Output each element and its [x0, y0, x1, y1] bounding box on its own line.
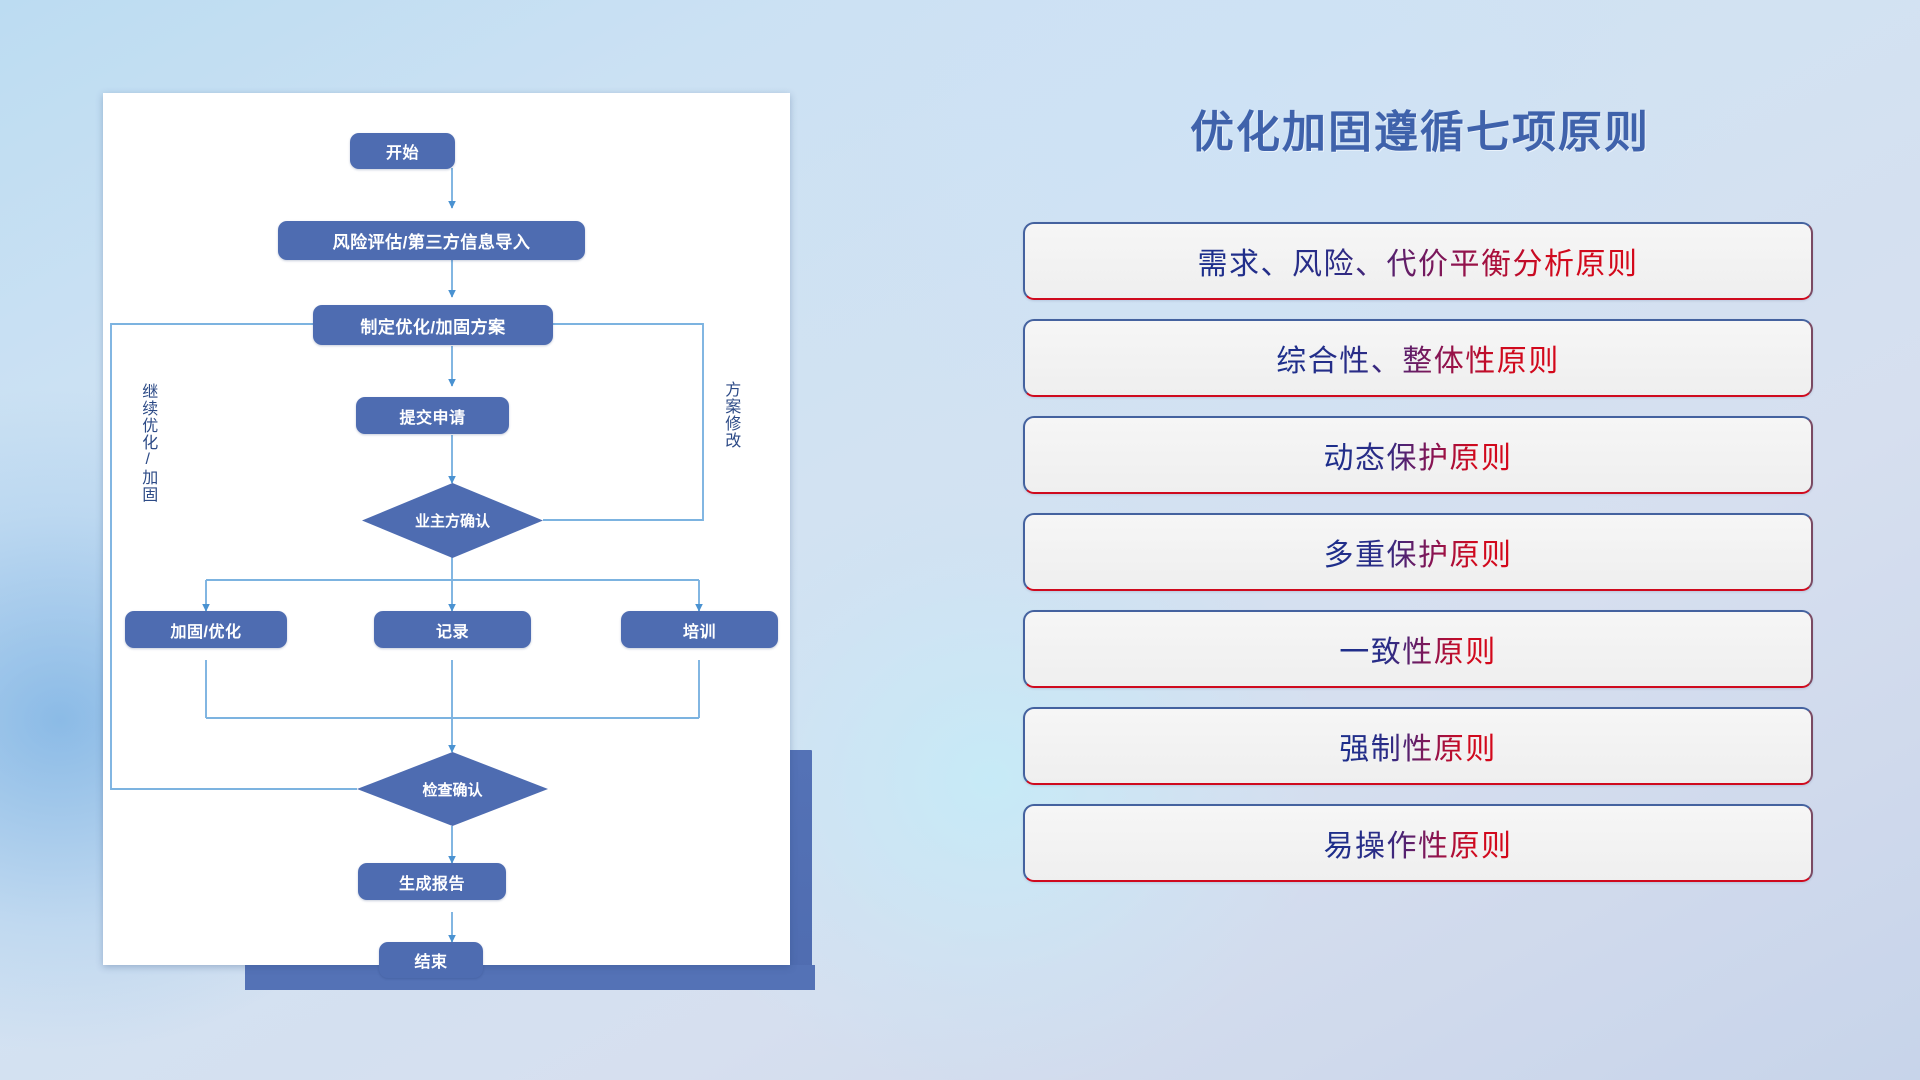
principle-card-2[interactable]: 综合性、整体性原则	[1023, 319, 1813, 397]
accent-rectangle-horizontal	[245, 965, 815, 990]
flow-node-training-label: 培训	[683, 618, 716, 642]
principle-card-3[interactable]: 动态保护原则	[1023, 416, 1813, 494]
slide-root: 开始 风险评估/第三方信息导入 制定优化/加固方案 提交申请 业主方确认 加固/…	[0, 0, 1920, 1080]
flow-node-check-confirm-label: 检查确认	[422, 779, 482, 800]
principle-card-7[interactable]: 易操作性原则	[1023, 804, 1813, 882]
flowchart-card: 开始 风险评估/第三方信息导入 制定优化/加固方案 提交申请 业主方确认 加固/…	[103, 93, 790, 965]
flow-node-reinforce-optimize-label: 加固/优化	[171, 618, 242, 642]
flow-node-reinforce-optimize[interactable]: 加固/优化	[125, 611, 287, 648]
flow-node-start-label: 开始	[386, 139, 419, 163]
principles-panel: 优化加固遵循七项原则 需求、风险、代价平衡分析原则 综合性、整体性原则 动态保护…	[1020, 96, 1820, 996]
edge-label-continue-optimize: 继续优化/加固	[139, 383, 156, 503]
flow-node-owner-confirm[interactable]: 业主方确认	[362, 483, 543, 558]
principle-card-4-label: 多重保护原则	[1324, 530, 1513, 574]
flow-node-end[interactable]: 结束	[379, 942, 483, 978]
principle-card-1-label: 需求、风险、代价平衡分析原则	[1198, 239, 1639, 283]
panel-title: 优化加固遵循七项原则	[1020, 96, 1820, 160]
flow-node-plan-label: 制定优化/加固方案	[360, 313, 505, 338]
edge-label-plan-revision: 方案修改	[722, 381, 739, 449]
flow-node-owner-confirm-label: 业主方确认	[415, 510, 490, 531]
flow-node-submit-application[interactable]: 提交申请	[356, 397, 509, 434]
principle-card-6-label: 强制性原则	[1339, 724, 1497, 768]
flow-node-generate-report-label: 生成报告	[399, 870, 465, 894]
flow-node-end-label: 结束	[414, 948, 447, 972]
flow-node-training[interactable]: 培训	[621, 611, 778, 648]
flow-node-record[interactable]: 记录	[374, 611, 531, 648]
principle-card-3-label: 动态保护原则	[1324, 433, 1513, 477]
flow-node-start[interactable]: 开始	[350, 133, 455, 169]
principle-card-5[interactable]: 一致性原则	[1023, 610, 1813, 688]
principle-card-5-label: 一致性原则	[1339, 627, 1497, 671]
flow-node-risk-assessment-label: 风险评估/第三方信息导入	[333, 228, 531, 253]
flow-node-plan[interactable]: 制定优化/加固方案	[313, 305, 553, 345]
principle-card-2-label: 综合性、整体性原则	[1276, 336, 1560, 380]
principle-card-4[interactable]: 多重保护原则	[1023, 513, 1813, 591]
principle-card-6[interactable]: 强制性原则	[1023, 707, 1813, 785]
flow-node-generate-report[interactable]: 生成报告	[358, 863, 506, 900]
flow-node-risk-assessment[interactable]: 风险评估/第三方信息导入	[278, 221, 585, 260]
principle-card-1[interactable]: 需求、风险、代价平衡分析原则	[1023, 222, 1813, 300]
principle-card-7-label: 易操作性原则	[1324, 821, 1513, 865]
flow-node-submit-application-label: 提交申请	[399, 404, 465, 428]
flow-node-record-label: 记录	[436, 618, 469, 642]
principles-list: 需求、风险、代价平衡分析原则 综合性、整体性原则 动态保护原则 多重保护原则 一…	[1023, 222, 1813, 901]
flow-node-check-confirm[interactable]: 检查确认	[357, 752, 548, 826]
